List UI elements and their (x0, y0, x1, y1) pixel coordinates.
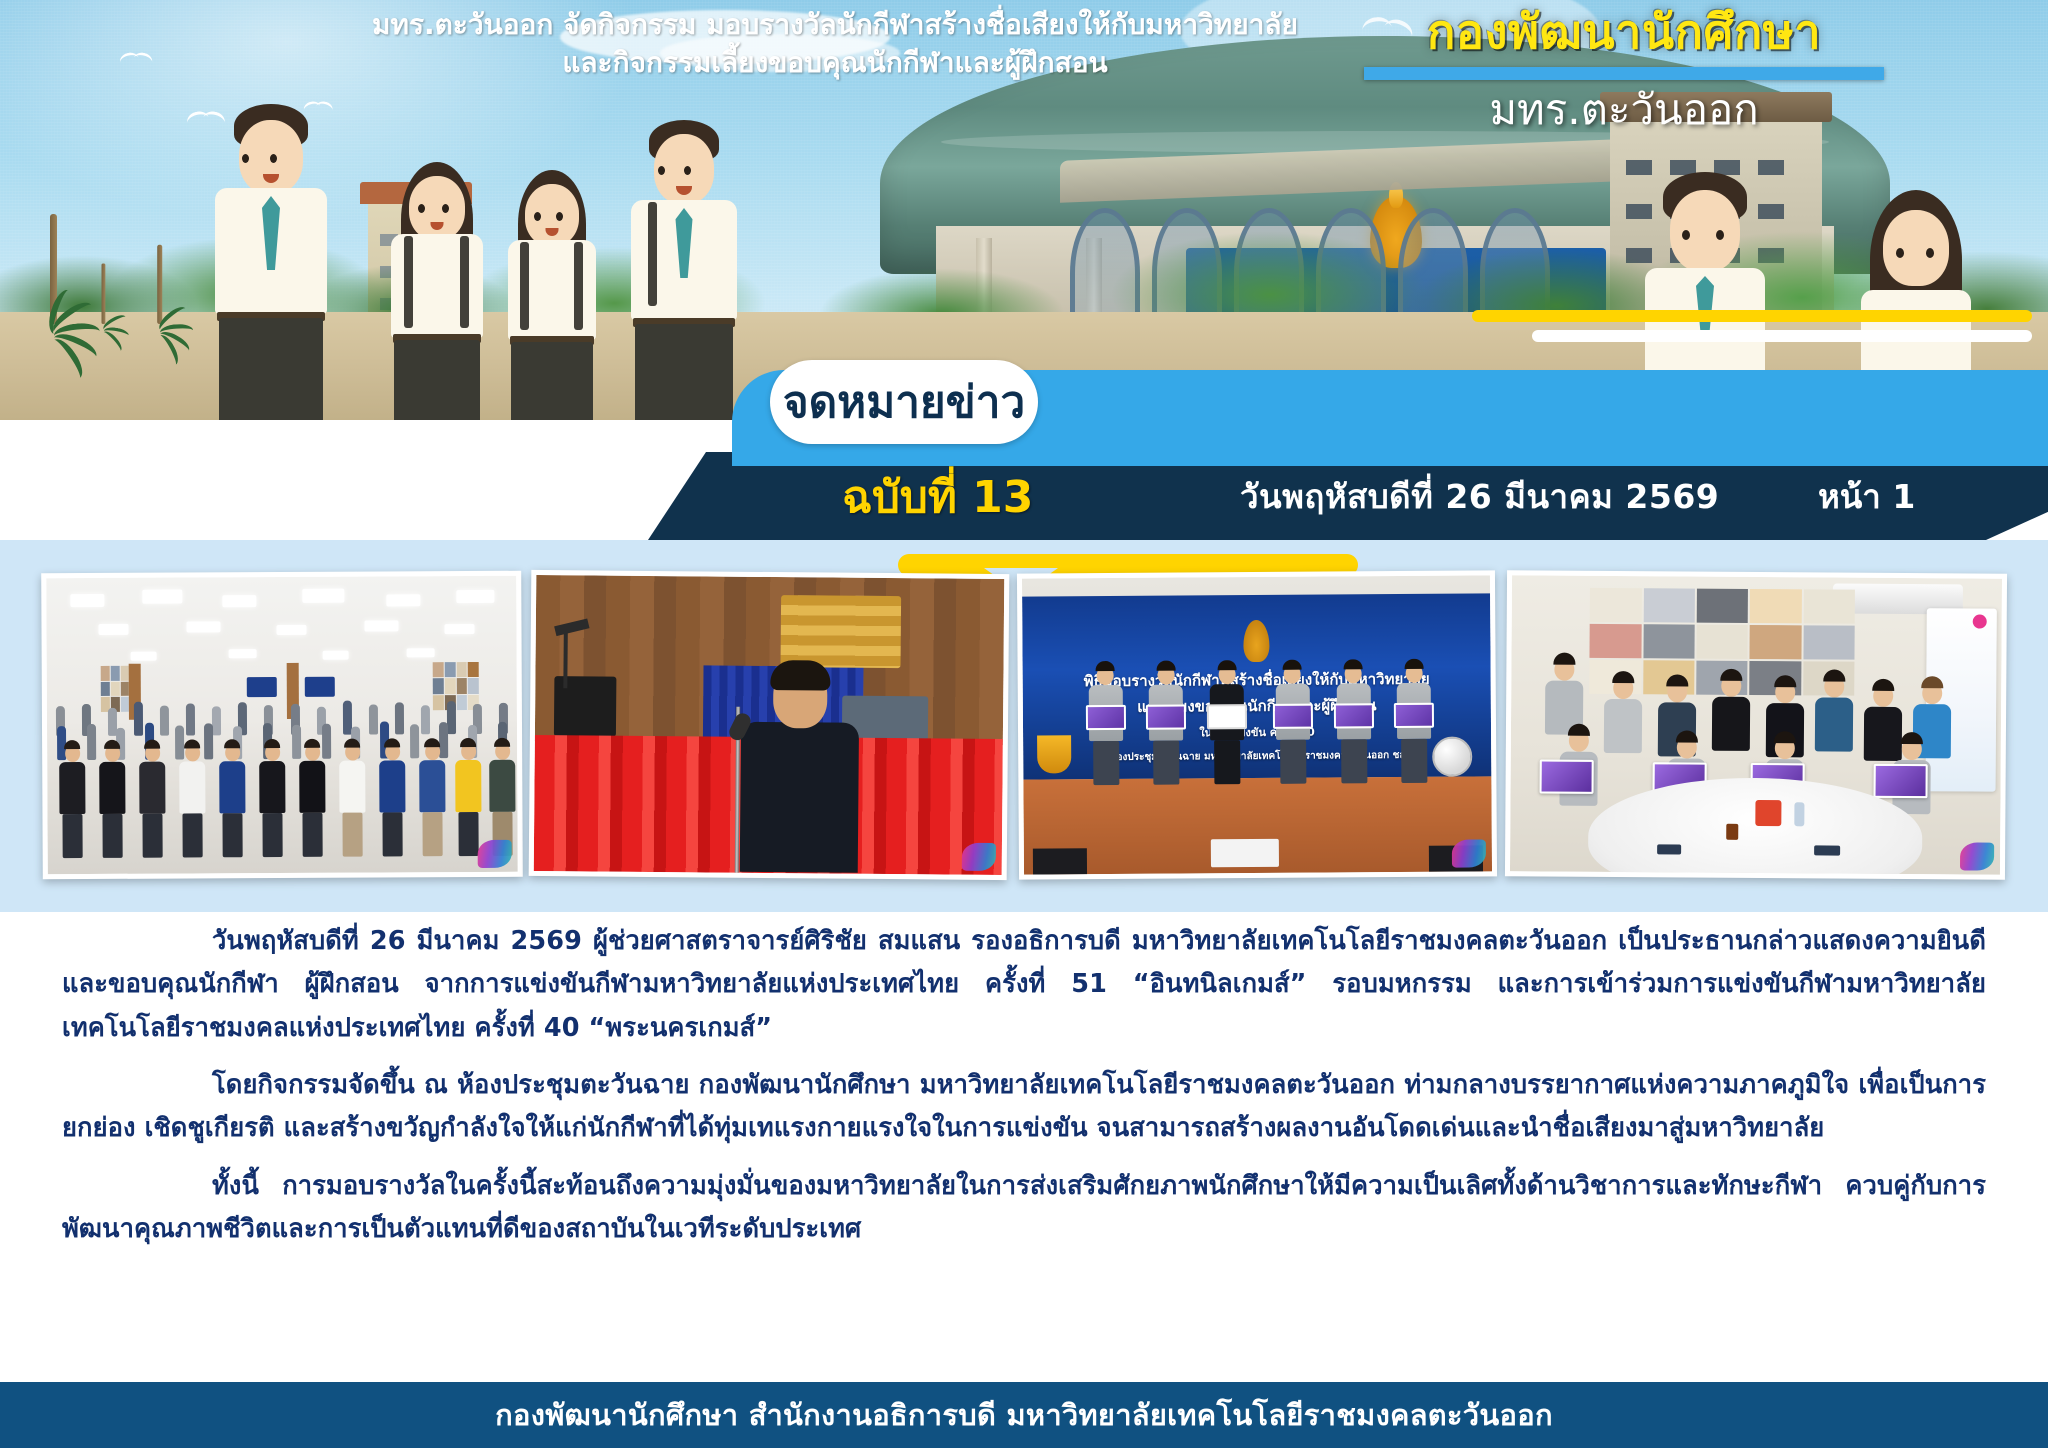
page-footer: กองพัฒนานักศึกษา สำนักงานอธิการบดี มหาวิ… (0, 1382, 2048, 1448)
athlete-person (1275, 660, 1310, 784)
org-title: กองพัฒนานักศึกษา (1224, 8, 2024, 59)
photo-award-stage[interactable]: พิธีมอบรางวัลนักกีฬาที่สร้างชื่อเสียงให้… (1017, 570, 1497, 879)
photo-speaker-mic[interactable] (529, 570, 1010, 880)
certificate-icon (1085, 705, 1125, 730)
org-subtitle: มทร.ตะวันออก (1224, 87, 2024, 133)
masthead-org-block: กองพัฒนานักศึกษา มทร.ตะวันออก (1224, 8, 2024, 133)
issue-number: ฉบับที่ 13 (842, 462, 1033, 532)
article-paragraph: วันพฤหัสบดีที่ 26 มีนาคม 2569 ผู้ช่วยศาส… (62, 920, 1986, 1050)
headline-line-2: และกิจกรรมเลี้ยงขอบคุณนักกีฬาและผู้ฝึกสอ… (370, 44, 1300, 82)
athlete-person (1088, 661, 1123, 785)
accent-bar-white (1532, 330, 2032, 342)
student-character (378, 162, 496, 420)
certificate-icon (1146, 705, 1186, 730)
newsletter-label-badge: จดหมายข่าว (770, 360, 1038, 444)
certificate-icon (1540, 759, 1594, 793)
headline-line-1: มทร.ตะวันออก จัดกิจกรรม มอบรางวัลนักกีฬา… (370, 6, 1300, 44)
page-number: หน้า 1 (1818, 470, 1915, 523)
footer-text: กองพัฒนานักศึกษา สำนักงานอธิการบดี มหาวิ… (495, 1392, 1553, 1438)
title-underline-rule (1364, 67, 1884, 80)
student-character (196, 104, 346, 420)
certificate-icon (1207, 704, 1247, 729)
accent-bar-yellow (1472, 310, 2032, 322)
issue-date: วันพฤหัสบดีที่ 26 มีนาคม 2569 (1240, 470, 1719, 523)
royal-emblem-icon (1243, 620, 1269, 662)
rmutto-watermark-icon (962, 843, 996, 871)
headline-text-block: มทร.ตะวันออก จัดกิจกรรม มอบรางวัลนักกีฬา… (370, 6, 1300, 82)
article-paragraph: โดยกิจกรรมจัดขึ้น ณ ห้องประชุมตะวันฉาย ก… (62, 1064, 1986, 1151)
guest-person (1604, 671, 1643, 753)
athlete-person (1149, 661, 1184, 785)
newsletter-label: จดหมายข่าว (783, 367, 1025, 437)
gold-decor (781, 595, 902, 668)
trophy-icon (1037, 736, 1071, 774)
rmutto-watermark-icon (1452, 839, 1486, 867)
speaker-person (740, 666, 860, 873)
athlete-person (1397, 659, 1432, 783)
article-body: วันพฤหัสบดีที่ 26 มีนาคม 2569 ผู้ช่วยศาส… (0, 912, 2048, 1382)
athlete-person (1336, 659, 1371, 783)
certificate-icon (1394, 703, 1434, 728)
guest-person (1545, 652, 1584, 734)
student-character (496, 170, 608, 420)
rmutto-watermark-icon (1960, 842, 1994, 870)
bird-icon (120, 53, 154, 67)
certificate-icon (1273, 704, 1313, 729)
certificate-icon (1333, 703, 1373, 728)
newsletter-page: กองพัฒนานักศึกษา มทร.ตะวันออก มทร.ตะวันอ… (0, 0, 2048, 1448)
guest-person (1712, 668, 1751, 750)
hall-interior (46, 576, 518, 874)
rmutto-watermark-icon (478, 840, 512, 868)
student-character (614, 120, 754, 420)
photo-banquet-table[interactable] (1505, 570, 2007, 879)
guest-person (1815, 669, 1854, 751)
article-paragraph: ทั้งนี้ การมอบรางวัลในครั้งนี้สะท้อนถึงค… (62, 1165, 1986, 1252)
photo-group-hall[interactable] (41, 571, 523, 880)
certificate-icon (1873, 764, 1927, 798)
presenter-person (1210, 660, 1245, 784)
